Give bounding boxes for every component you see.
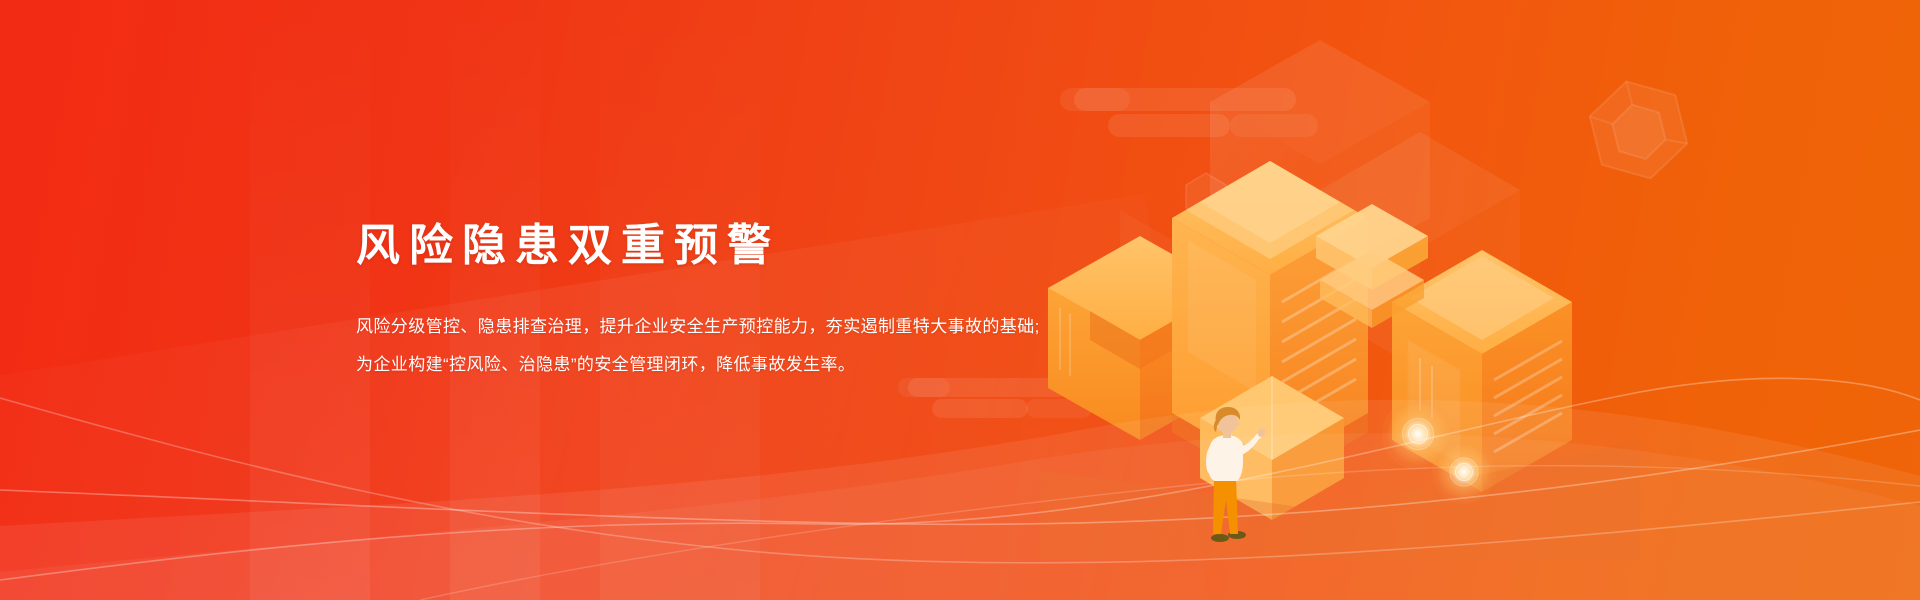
cloud-icon <box>898 378 1098 428</box>
hexagon-cube-icon <box>1262 188 1336 262</box>
ghost-blocks <box>1120 40 1520 370</box>
glow-dot-icon <box>1382 398 1454 470</box>
hexagon-cube-icon <box>1578 68 1698 188</box>
subtitle-line-1: 风险分级管控、隐患排查治理，提升企业安全生产预控能力，夯实遏制重特大事故的基础; <box>356 308 1076 346</box>
cloud-icon <box>1060 88 1320 148</box>
hexagon-cube-icon <box>1178 168 1234 224</box>
person-pointing-figure <box>1196 404 1286 544</box>
light-band <box>250 0 370 600</box>
banner-copy: 风险隐患双重预警 风险分级管控、隐患排查治理，提升企业安全生产预控能力，夯实遏制… <box>356 222 1076 384</box>
isometric-data-center-illustration <box>1020 40 1640 560</box>
hero-banner: 风险隐患双重预警 风险分级管控、隐患排查治理，提升企业安全生产预控能力，夯实遏制… <box>0 0 1920 600</box>
server-tower-right <box>1392 250 1572 492</box>
banner-subtitle: 风险分级管控、隐患排查治理，提升企业安全生产预控能力，夯实遏制重特大事故的基础;… <box>356 270 1076 384</box>
page-title: 风险隐患双重预警 <box>356 222 1076 270</box>
glow-dot-icon <box>1432 440 1496 504</box>
floating-slab-stack <box>1316 204 1428 328</box>
subtitle-line-2: 为企业构建“控风险、治隐患”的安全管理闭环，降低事故发生率。 <box>356 346 1076 384</box>
